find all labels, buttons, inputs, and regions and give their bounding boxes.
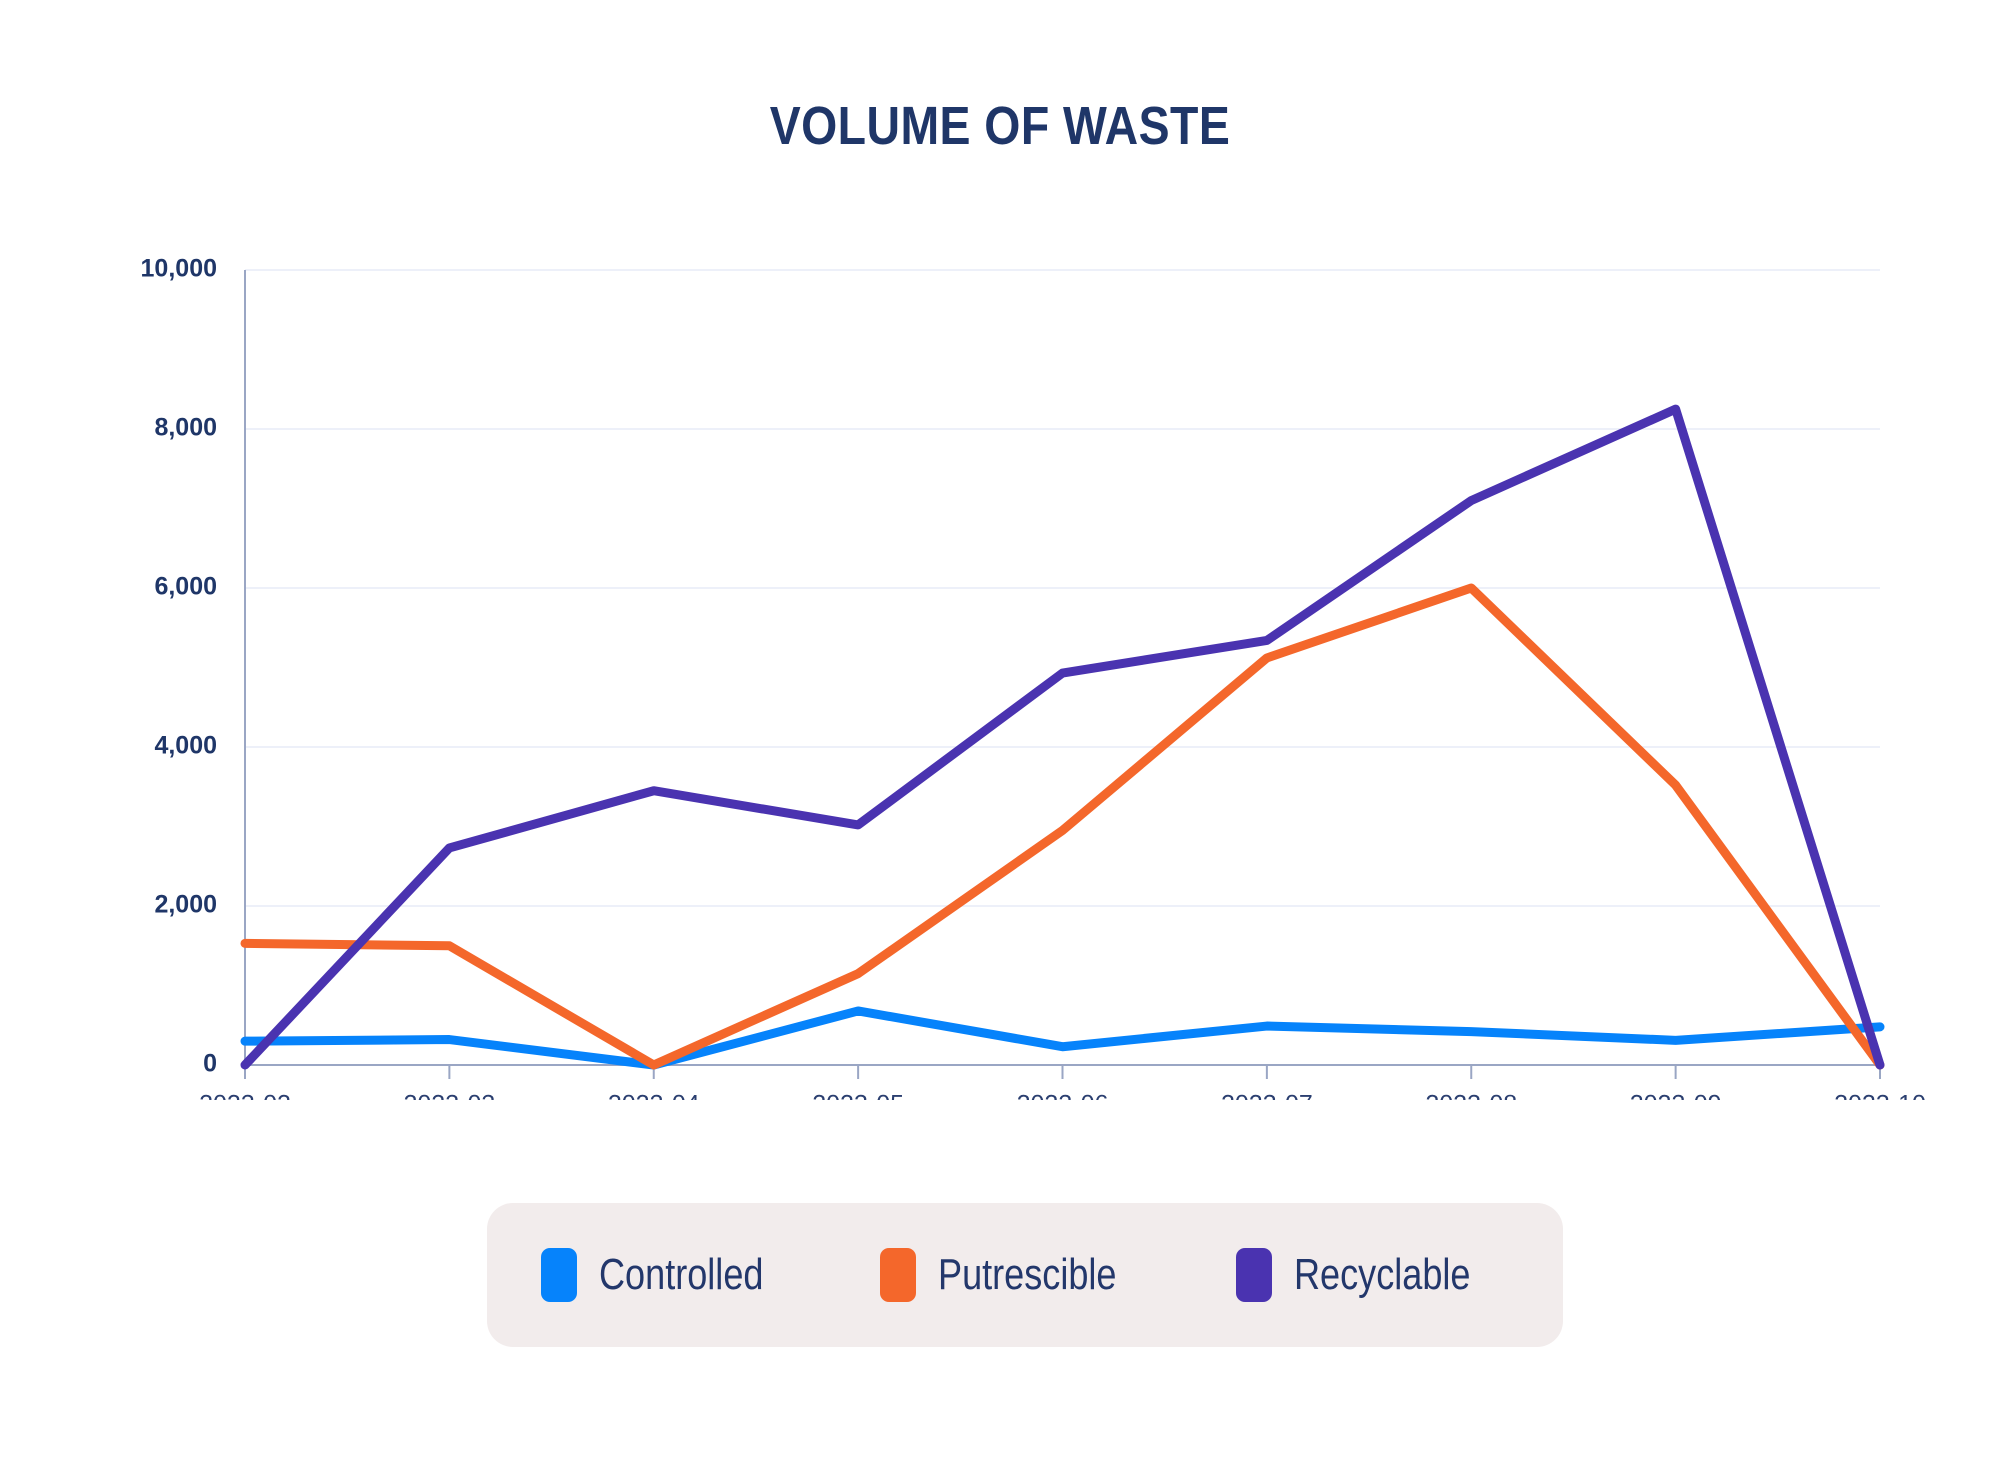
y-axis-tick-label: 0 [203, 1050, 217, 1078]
x-axis-tick-label: 2023-02 [199, 1091, 291, 1100]
series-line-putrescible [245, 588, 1880, 1065]
chart-legend: ControlledPutrescibleRecyclable [487, 1203, 1563, 1347]
x-axis-tick-label: 2023-09 [1630, 1091, 1722, 1100]
x-axis-tick-label: 2023-03 [404, 1091, 496, 1100]
legend-swatch-icon [880, 1248, 916, 1302]
legend-item-controlled[interactable]: Controlled [541, 1248, 800, 1302]
legend-swatch-icon [541, 1248, 577, 1302]
series-line-controlled [245, 1011, 1880, 1065]
y-axis-tick-label: 6,000 [154, 573, 217, 601]
x-axis-tick-label: 2023-08 [1425, 1091, 1517, 1100]
y-gridlines [245, 270, 1880, 906]
legend-label: Controlled [599, 1250, 763, 1300]
chart-page: VOLUME OF WASTE 02,0004,0006,0008,00010,… [0, 0, 2000, 1472]
x-axis-tick-label: 2023-04 [608, 1091, 700, 1100]
y-axis-tick-label: 4,000 [154, 732, 217, 760]
y-axis-tick-label: 2,000 [154, 891, 217, 919]
legend-label: Putrescible [938, 1250, 1116, 1300]
x-axis-tick-label: 2023-10 [1834, 1091, 1926, 1100]
page-title: VOLUME OF WASTE [140, 95, 1860, 157]
legend-label: Recyclable [1294, 1250, 1470, 1300]
x-axis-tick-label: 2023-05 [812, 1091, 904, 1100]
line-chart-svg: 02,0004,0006,0008,00010,0002023-022023-0… [0, 200, 2000, 1100]
legend-swatch-icon [1236, 1248, 1272, 1302]
y-axis-tick-label: 10,000 [141, 255, 217, 283]
legend-item-putrescible[interactable]: Putrescible [880, 1248, 1156, 1302]
plot-area: 02,0004,0006,0008,00010,0002023-022023-0… [0, 200, 2000, 1100]
x-axis-tick-label: 2023-07 [1221, 1091, 1313, 1100]
y-axis-tick-label: 8,000 [154, 414, 217, 442]
x-axis-tick-label: 2023-06 [1017, 1091, 1109, 1100]
legend-item-recyclable[interactable]: Recyclable [1236, 1248, 1509, 1302]
